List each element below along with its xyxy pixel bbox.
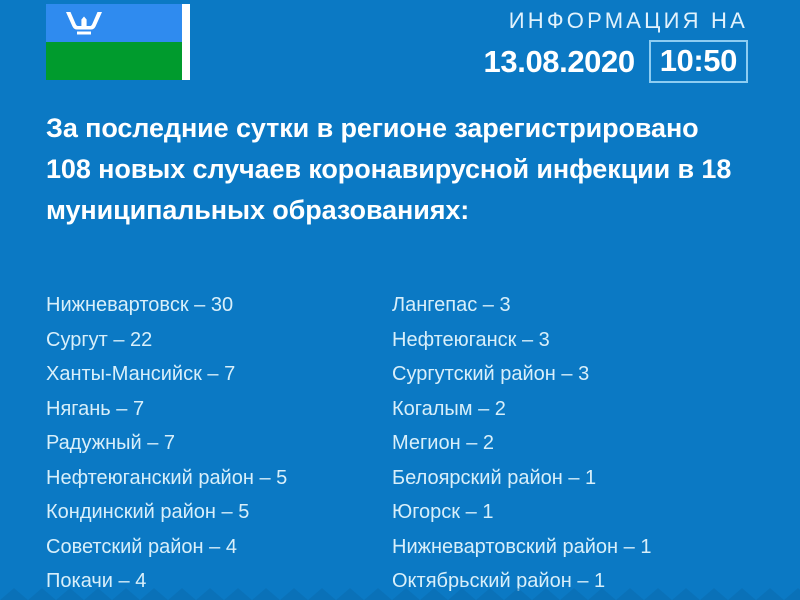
municipality-row: Советский район – 4 bbox=[46, 530, 366, 565]
municipality-row: Югорск – 1 bbox=[392, 495, 712, 530]
flag-white-stripe bbox=[182, 4, 190, 80]
municipality-row: Кондинский район – 5 bbox=[46, 495, 366, 530]
municipality-name: Ханты-Мансийск bbox=[46, 363, 202, 385]
municipality-separator: – bbox=[618, 536, 640, 558]
municipality-name: Нижневартовский район bbox=[392, 536, 618, 558]
municipality-separator: – bbox=[189, 294, 211, 316]
municipality-separator: – bbox=[202, 363, 224, 385]
time-value: 10:50 bbox=[660, 44, 737, 78]
municipality-case-count: 7 bbox=[133, 398, 144, 420]
municipality-case-count: 1 bbox=[482, 501, 493, 523]
municipality-separator: – bbox=[477, 294, 499, 316]
municipality-row: Покачи – 4 bbox=[46, 564, 366, 599]
municipality-case-count: 3 bbox=[539, 329, 550, 351]
municipality-case-count: 2 bbox=[495, 398, 506, 420]
municipality-row: Мегион – 2 bbox=[392, 426, 712, 461]
covid-information-poster: ИНФОРМАЦИЯ НА 13.08.2020 10:50 За послед… bbox=[0, 0, 800, 600]
time-badge: 10:50 bbox=[649, 40, 748, 83]
municipality-name: Октябрьский район bbox=[392, 570, 572, 592]
okrug-crown-emblem-icon bbox=[64, 10, 104, 36]
municipality-row: Нягань – 7 bbox=[46, 392, 366, 427]
municipality-name: Нижневартовск bbox=[46, 294, 189, 316]
municipality-name: Нягань bbox=[46, 398, 111, 420]
municipality-separator: – bbox=[572, 570, 594, 592]
municipality-separator: – bbox=[556, 363, 578, 385]
okrug-flag-icon bbox=[46, 4, 190, 80]
municipality-name: Нефтеюганск bbox=[392, 329, 516, 351]
municipality-separator: – bbox=[108, 329, 130, 351]
date-value: 13.08.2020 bbox=[484, 45, 635, 79]
municipality-separator: – bbox=[204, 536, 226, 558]
municipality-case-count: 1 bbox=[594, 570, 605, 592]
municipality-row: Нижневартовский район – 1 bbox=[392, 530, 712, 565]
municipality-name: Лангепас bbox=[392, 294, 477, 316]
municipality-separator: – bbox=[113, 570, 135, 592]
municipality-case-count: 1 bbox=[640, 536, 651, 558]
municipality-case-count: 7 bbox=[224, 363, 235, 385]
municipality-row: Радужный – 7 bbox=[46, 426, 366, 461]
municipality-list-left-column: Нижневартовск – 30Сургут – 22Ханты-Манси… bbox=[46, 288, 366, 599]
municipality-case-count: 30 bbox=[211, 294, 233, 316]
municipality-case-count: 22 bbox=[130, 329, 152, 351]
municipality-row: Когалым – 2 bbox=[392, 392, 712, 427]
municipality-name: Сургут bbox=[46, 329, 108, 351]
municipality-row: Белоярский район – 1 bbox=[392, 461, 712, 496]
poster-header: ИНФОРМАЦИЯ НА 13.08.2020 10:50 bbox=[0, 0, 800, 92]
municipality-row: Ханты-Мансийск – 7 bbox=[46, 357, 366, 392]
municipality-separator: – bbox=[516, 329, 538, 351]
municipality-separator: – bbox=[216, 501, 238, 523]
municipality-row: Октябрьский район – 1 bbox=[392, 564, 712, 599]
municipality-case-count: 3 bbox=[499, 294, 510, 316]
municipality-separator: – bbox=[473, 398, 495, 420]
datetime-row: 13.08.2020 10:50 bbox=[484, 40, 748, 83]
information-label: ИНФОРМАЦИЯ НА bbox=[484, 6, 748, 36]
municipality-name: Кондинский район bbox=[46, 501, 216, 523]
municipality-separator: – bbox=[460, 501, 482, 523]
municipality-row: Лангепас – 3 bbox=[392, 288, 712, 323]
municipality-row: Нижневартовск – 30 bbox=[46, 288, 366, 323]
municipality-case-count: 1 bbox=[585, 467, 596, 489]
municipality-case-list: Нижневартовск – 30Сургут – 22Ханты-Манси… bbox=[46, 288, 762, 599]
municipality-row: Нефтеюганск – 3 bbox=[392, 323, 712, 358]
municipality-separator: – bbox=[461, 432, 483, 454]
municipality-name: Мегион bbox=[392, 432, 461, 454]
municipality-row: Сургутский район – 3 bbox=[392, 357, 712, 392]
municipality-name: Радужный bbox=[46, 432, 142, 454]
municipality-name: Советский район bbox=[46, 536, 204, 558]
municipality-separator: – bbox=[254, 467, 276, 489]
municipality-name: Когалым bbox=[392, 398, 473, 420]
headline-text: За последние сутки в регионе зарегистрир… bbox=[46, 108, 746, 231]
municipality-case-count: 3 bbox=[578, 363, 589, 385]
municipality-separator: – bbox=[142, 432, 164, 454]
municipality-name: Белоярский район bbox=[392, 467, 563, 489]
municipality-name: Сургутский район bbox=[392, 363, 556, 385]
municipality-name: Югорск bbox=[392, 501, 460, 523]
municipality-name: Нефтеюганский район bbox=[46, 467, 254, 489]
municipality-separator: – bbox=[111, 398, 133, 420]
municipality-case-count: 7 bbox=[164, 432, 175, 454]
municipality-separator: – bbox=[563, 467, 585, 489]
municipality-case-count: 4 bbox=[226, 536, 237, 558]
information-datetime-block: ИНФОРМАЦИЯ НА 13.08.2020 10:50 bbox=[484, 6, 748, 83]
municipality-list-right-column: Лангепас – 3Нефтеюганск – 3Сургутский ра… bbox=[392, 288, 712, 599]
municipality-case-count: 5 bbox=[238, 501, 249, 523]
municipality-case-count: 5 bbox=[276, 467, 287, 489]
municipality-row: Сургут – 22 bbox=[46, 323, 366, 358]
flag-green-band bbox=[46, 42, 182, 80]
municipality-case-count: 4 bbox=[135, 570, 146, 592]
municipality-case-count: 2 bbox=[483, 432, 494, 454]
municipality-row: Нефтеюганский район – 5 bbox=[46, 461, 366, 496]
municipality-name: Покачи bbox=[46, 570, 113, 592]
